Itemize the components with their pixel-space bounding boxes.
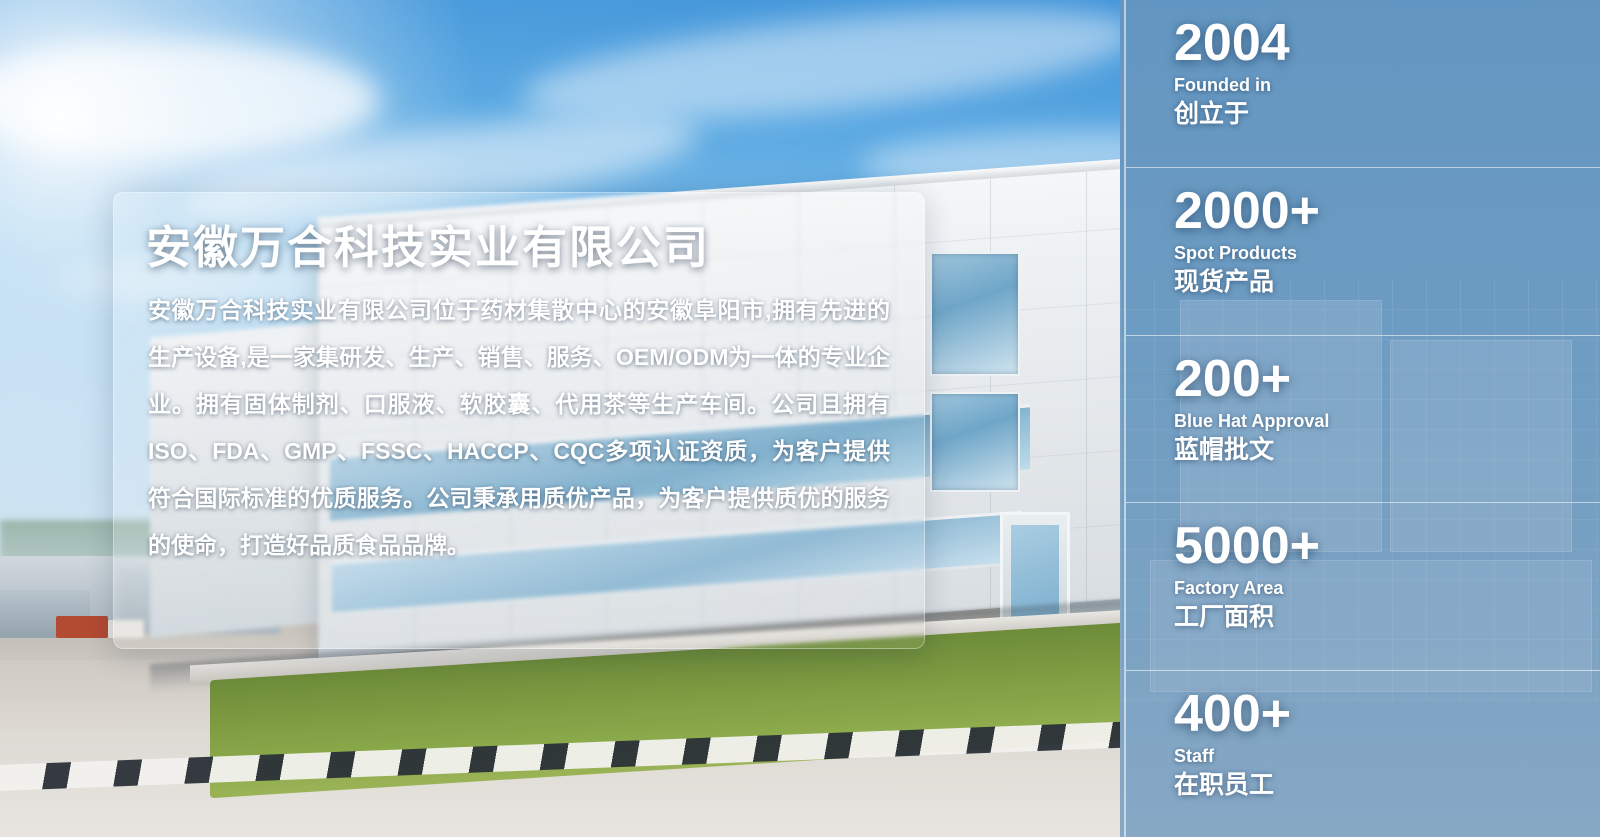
- stat-label-en: Factory Area: [1174, 575, 1600, 601]
- company-title: 安徽万合科技实业有限公司: [146, 211, 710, 276]
- stat-item-staff: 400+ Staff 在职员工: [1126, 670, 1600, 837]
- stat-label-en: Founded in: [1174, 72, 1600, 98]
- stat-label-en: Staff: [1174, 743, 1600, 769]
- stat-label-cn: 现货产品: [1174, 266, 1600, 298]
- stat-value: 2004: [1174, 14, 1600, 72]
- stat-value: 5000+: [1174, 517, 1600, 575]
- stat-label-en: Blue Hat Approval: [1174, 408, 1600, 434]
- stat-label-cn: 在职员工: [1174, 769, 1600, 801]
- stat-value: 2000+: [1174, 182, 1600, 240]
- stat-item-spot-products: 2000+ Spot Products 现货产品: [1126, 167, 1600, 334]
- stat-label-cn: 蓝帽批文: [1174, 434, 1600, 466]
- hero-banner: 安徽万合科技实业有限公司 安徽万合科技实业有限公司位于药材集散中心的安徽阜阳市,…: [0, 0, 1600, 837]
- facade-window: [930, 392, 1020, 492]
- company-description: 安徽万合科技实业有限公司位于药材集散中心的安徽阜阳市,拥有先进的生产设备,是一家…: [148, 287, 890, 569]
- stat-item-blue-hat-approval: 200+ Blue Hat Approval 蓝帽批文: [1126, 335, 1600, 502]
- company-intro-card: 安徽万合科技实业有限公司 安徽万合科技实业有限公司位于药材集散中心的安徽阜阳市,…: [113, 192, 925, 649]
- stat-value: 200+: [1174, 350, 1600, 408]
- parked-truck: [56, 616, 108, 638]
- facade-window: [930, 252, 1020, 376]
- stat-label-en: Spot Products: [1174, 240, 1600, 266]
- stat-label-cn: 创立于: [1174, 98, 1600, 130]
- stat-item-factory-area: 5000+ Factory Area 工厂面积: [1126, 502, 1600, 669]
- stats-panel: 2004 Founded in 创立于 2000+ Spot Products …: [1124, 0, 1600, 837]
- stat-value: 400+: [1174, 685, 1600, 743]
- stat-label-cn: 工厂面积: [1174, 601, 1600, 633]
- stat-item-founded: 2004 Founded in 创立于: [1126, 0, 1600, 167]
